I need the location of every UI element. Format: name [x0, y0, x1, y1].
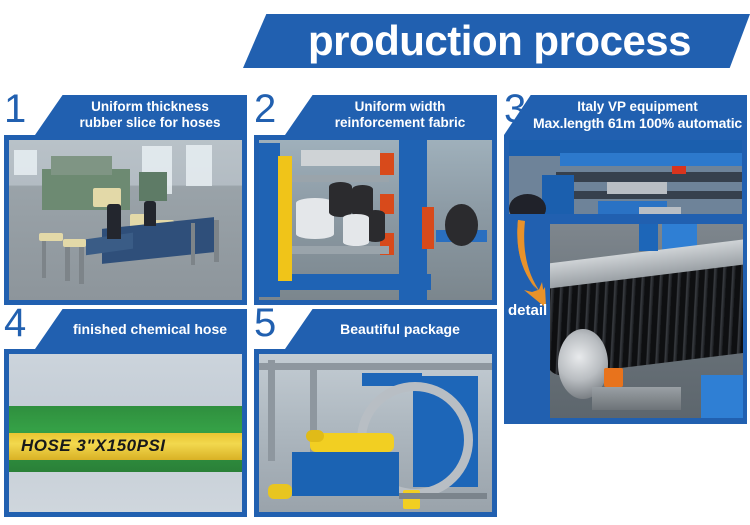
panel-1-label-line1: Uniform thickness	[91, 99, 209, 115]
panel-1-label-line2: rubber slice for hoses	[79, 115, 220, 131]
panel-1-photo	[9, 140, 242, 300]
panel-1-caption: 1 Uniform thickness rubber slice for hos…	[4, 93, 247, 135]
panel-2-number: 2	[254, 89, 276, 129]
panel-4-label-line1: finished chemical hose	[73, 321, 227, 337]
panel-5-label-line1: Beautiful package	[340, 321, 460, 337]
panel-3-caption: 3 Italy VP equipment Max.length 61m 100%…	[504, 93, 747, 135]
panel-4-label-band: finished chemical hose	[35, 309, 247, 349]
panel-4-number: 4	[4, 303, 26, 343]
detail-panel: detail	[504, 214, 747, 424]
panel-4-photo: HOSE 3"X150PSI	[9, 354, 242, 512]
panel-5-photo	[259, 354, 492, 512]
panel-2-label-line1: Uniform width	[355, 99, 446, 115]
panel-2: 2 Uniform width reinforcement fabric	[254, 93, 497, 305]
production-process-infographic: production process 1 Uniform thickness r…	[0, 0, 750, 525]
header-banner: production process	[243, 14, 750, 68]
panel-2-photo	[259, 140, 492, 300]
panel-5: 5 Beautiful package	[254, 307, 497, 517]
hose-print-text: HOSE 3"X150PSI	[9, 436, 166, 456]
panel-5-number: 5	[254, 303, 276, 343]
panel-1: 1 Uniform thickness rubber slice for hos…	[4, 93, 247, 305]
panel-2-photo-frame	[254, 135, 497, 305]
panel-4-caption: 4 finished chemical hose	[4, 307, 247, 349]
curved-arrow-icon	[508, 216, 554, 316]
panel-1-label-band: Uniform thickness rubber slice for hoses	[35, 95, 247, 135]
panel-3-label-line2: Max.length 61m 100% automatic	[533, 115, 742, 131]
page-title: production process	[243, 14, 750, 68]
panel-4-photo-frame: HOSE 3"X150PSI	[4, 349, 247, 517]
panel-5-caption: 5 Beautiful package	[254, 307, 497, 349]
panel-2-label-band: Uniform width reinforcement fabric	[285, 95, 497, 135]
panel-2-caption: 2 Uniform width reinforcement fabric	[254, 93, 497, 135]
detail-photo	[550, 224, 743, 418]
detail-photo-frame	[550, 224, 743, 418]
panel-3-label-band: Italy VP equipment Max.length 61m 100% a…	[504, 95, 747, 135]
panel-4: 4 finished chemical hose HOSE 3"X150PSI	[4, 307, 247, 517]
panel-1-number: 1	[4, 89, 26, 129]
panel-5-photo-frame	[254, 349, 497, 517]
hose-yellow-stripe: HOSE 3"X150PSI	[9, 433, 242, 460]
panel-1-photo-frame	[4, 135, 247, 305]
panel-3-label-line1: Italy VP equipment	[577, 99, 698, 115]
panel-2-label-line2: reinforcement fabric	[335, 115, 466, 131]
panel-5-label-band: Beautiful package	[285, 309, 497, 349]
detail-label: detail	[508, 302, 552, 319]
